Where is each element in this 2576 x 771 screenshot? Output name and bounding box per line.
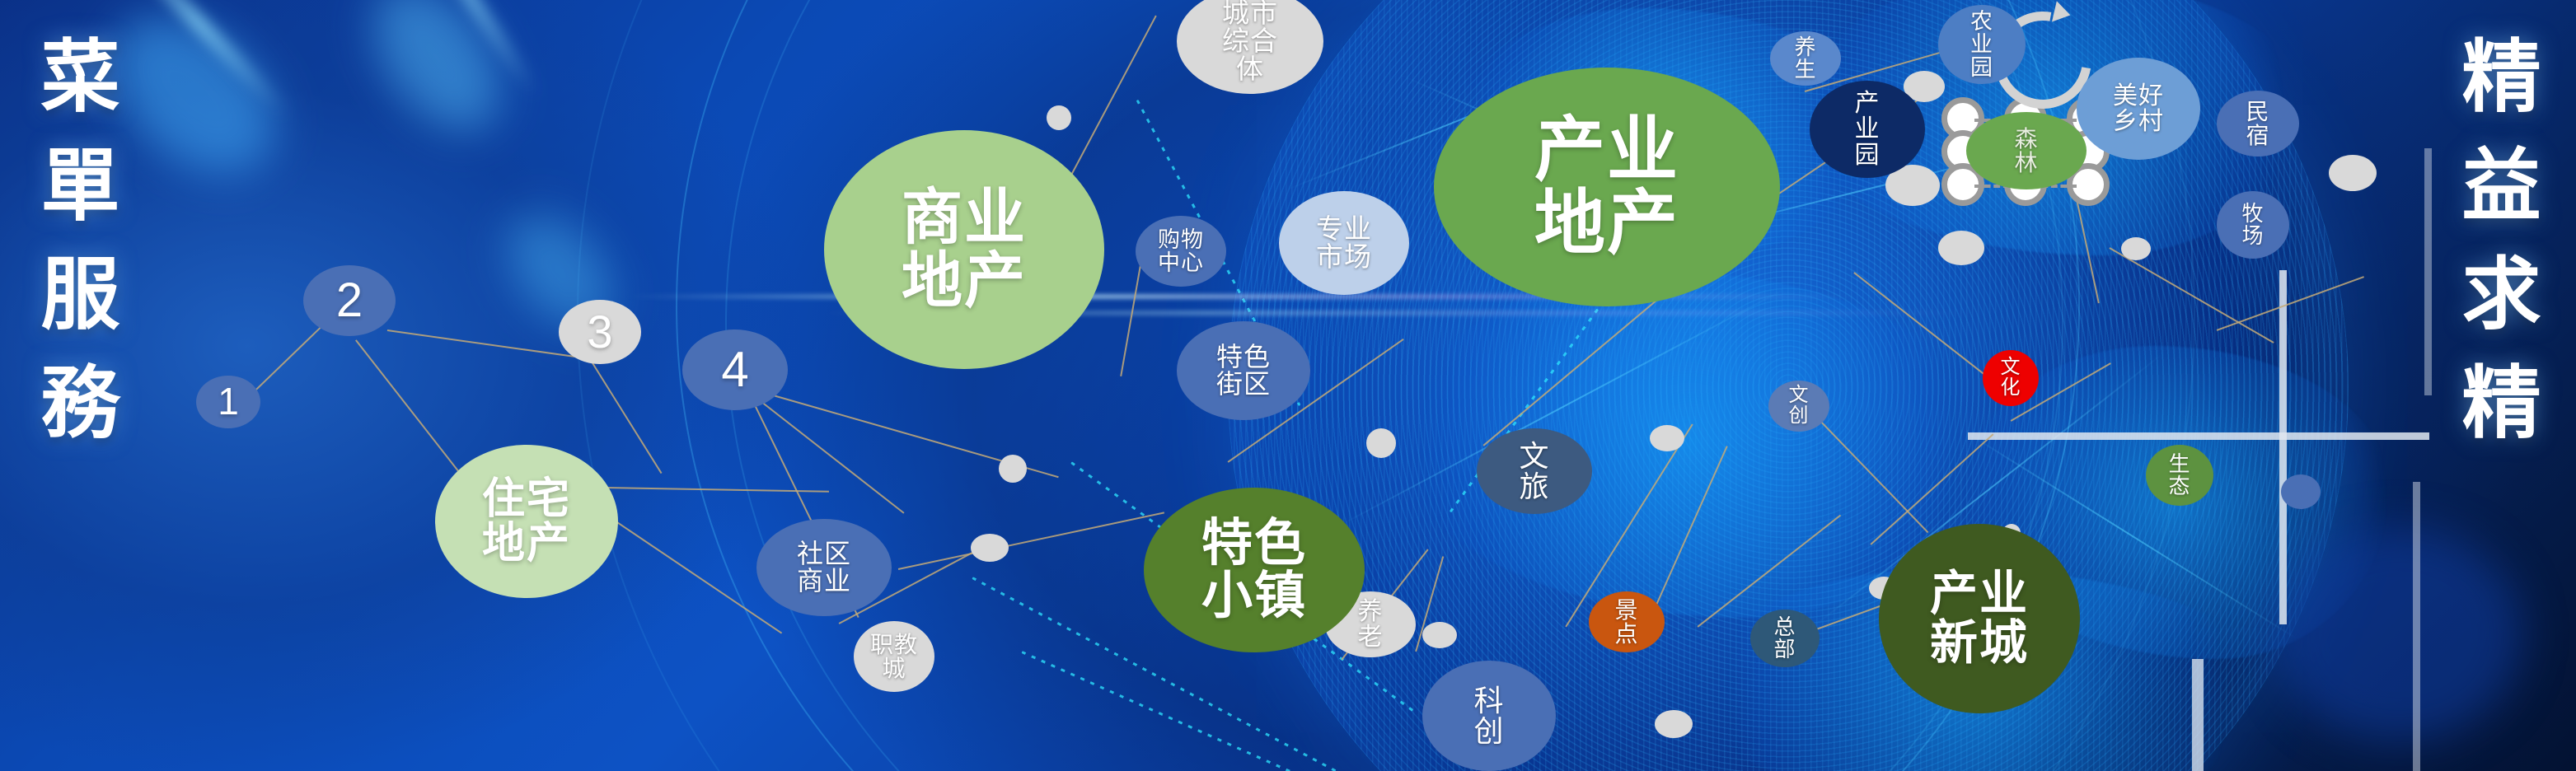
light-glow (349, 0, 526, 153)
number-node-3[interactable]: 3 (559, 300, 641, 364)
link-line (355, 339, 473, 489)
bubble-minsu[interactable]: 民 宿 (2217, 91, 2299, 157)
cross-bar-vertical (2413, 482, 2420, 771)
bubble-chanyeyuan[interactable]: 产 业 园 (1810, 81, 1925, 178)
bubble-label: 特色 街区 (1216, 343, 1271, 399)
cross-bar-vertical (2424, 148, 2432, 395)
bubble-zhuanye-shichang[interactable]: 专业 市场 (1279, 191, 1409, 295)
bubble-chanye-dichan[interactable]: 产业 地产 (1434, 68, 1780, 306)
number-node-label: 3 (587, 308, 612, 356)
bubble-zhuzhai-dichan[interactable]: 住宅 地产 (435, 445, 618, 598)
cross-bar-horizontal (1968, 432, 2429, 440)
dot-node (1047, 105, 1071, 130)
dot-node (971, 534, 1009, 562)
bubble-zhijiao-cheng[interactable]: 职教 城 (854, 621, 934, 692)
bubble-shengtai[interactable]: 生 态 (2146, 445, 2213, 506)
poster-canvas: 1 2 3 4 城市 综合 体 购物 中心 专业 市场 特色 街区 社区 商业 … (0, 0, 2576, 771)
number-node-4[interactable]: 4 (682, 329, 788, 410)
bubble-wenhua[interactable]: 文 化 (1983, 350, 2039, 406)
bubble-meihao-xiangcun[interactable]: 美好 乡村 (2077, 58, 2200, 160)
link-line (387, 329, 583, 358)
bubble-wenchuang[interactable]: 文 创 (1768, 381, 1829, 432)
bubble-label: 特色 小镇 (1201, 517, 1307, 624)
bubble-kechuang[interactable]: 科 创 (1422, 661, 1556, 771)
bubble-yangsheng[interactable]: 养 生 (1770, 31, 1841, 86)
bubble-muchang[interactable]: 牧 场 (2217, 191, 2289, 259)
dot-node (2329, 155, 2377, 191)
bubble-gouwu-zhongxin[interactable]: 购物 中心 (1136, 216, 1226, 287)
cross-bar-vertical (2279, 270, 2287, 624)
dot-node (1366, 428, 1396, 458)
bubble-wenlv[interactable]: 文 旅 (1477, 428, 1592, 514)
bubble-senlin[interactable]: 森 林 (1966, 112, 2087, 189)
number-node-1[interactable]: 1 (196, 376, 260, 428)
bubble-label: 产业 地产 (1534, 114, 1679, 261)
number-node-2[interactable]: 2 (303, 265, 396, 336)
bubble-label: 住宅 地产 (482, 477, 571, 566)
bubble-label: 专业 市场 (1316, 215, 1372, 272)
number-node-label: 4 (721, 344, 748, 395)
number-node-label: 1 (218, 382, 239, 422)
bubble-label: 商业 地产 (902, 186, 1027, 313)
dot-node (1655, 710, 1693, 738)
right-calligraphy-text: 精益求精 (2454, 35, 2533, 727)
bubble-shangye-dichan[interactable]: 商业 地产 (824, 130, 1104, 369)
dot-node (2281, 474, 2321, 509)
dot-node (1938, 231, 1984, 265)
bubble-tese-jiequ[interactable]: 特色 街区 (1177, 321, 1310, 420)
bubble-shequ-shangye[interactable]: 社区 商业 (756, 519, 892, 616)
link-post (2192, 659, 2204, 771)
number-node-label: 2 (336, 276, 363, 325)
bubble-chanye-xincheng[interactable]: 产业 新城 (1879, 524, 2080, 713)
bubble-jingdian[interactable]: 景 点 (1589, 591, 1665, 652)
bubble-label: 社区 商业 (797, 540, 851, 596)
dot-node (999, 455, 1027, 483)
bubble-label: 职教 城 (870, 633, 918, 680)
dot-node (2121, 237, 2151, 260)
bubble-tese-xiaozhen[interactable]: 特色 小镇 (1144, 488, 1365, 652)
bubble-zongbu[interactable]: 总 部 (1750, 610, 1820, 667)
dot-node (1650, 425, 1684, 451)
bubble-label: 产业 新城 (1930, 569, 2029, 669)
bubble-nongyeyuan[interactable]: 农 业 园 (1938, 5, 2026, 84)
bubble-label: 城市 综合 体 (1222, 0, 1278, 83)
left-calligraphy-text: 菜單服務 (33, 35, 112, 727)
dot-node (1422, 622, 1457, 648)
